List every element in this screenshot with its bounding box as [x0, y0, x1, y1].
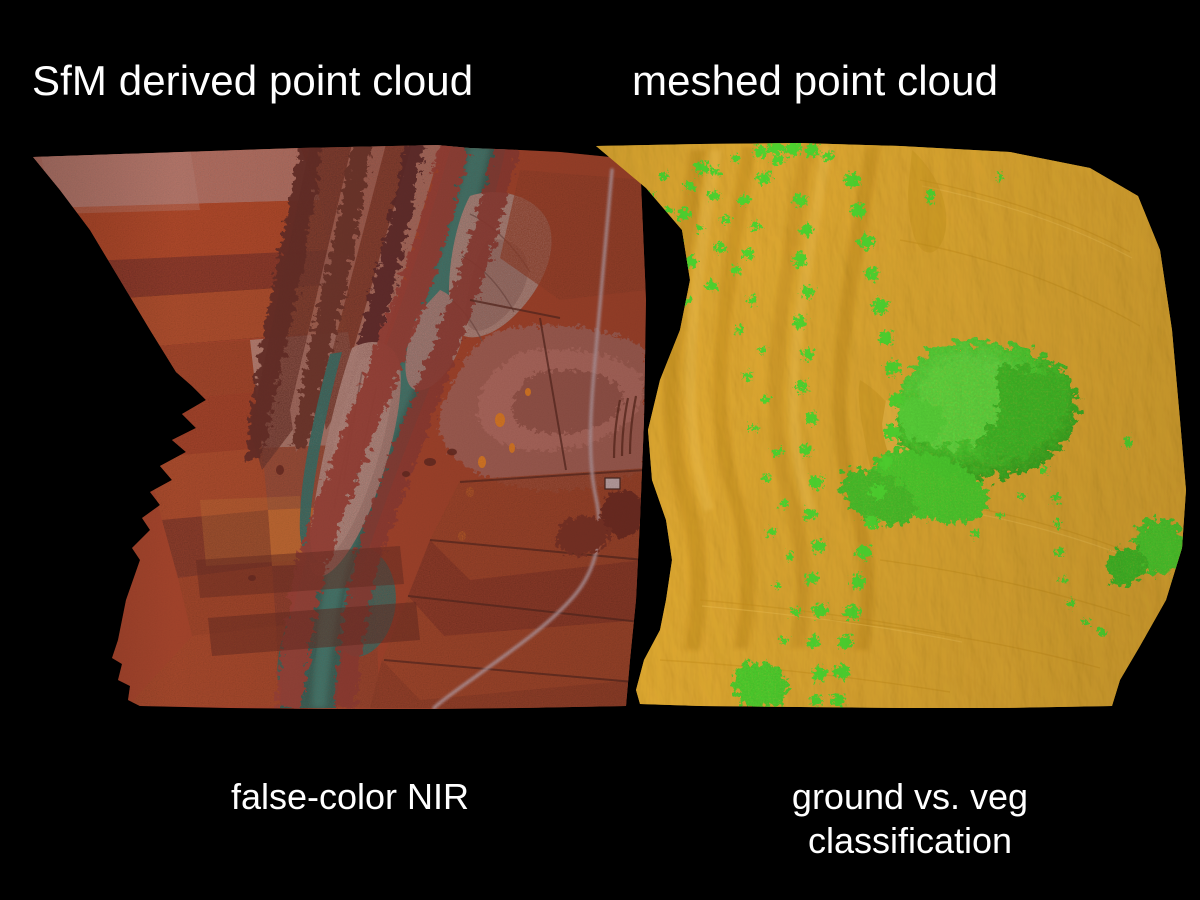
left-panel-caption: false-color NIR	[100, 775, 600, 819]
left-panel-title: SfM derived point cloud	[32, 60, 473, 102]
figure-canvas: SfM derived point cloud meshed point clo…	[0, 0, 1200, 900]
right-panel-caption: ground vs. veg classification	[660, 775, 1160, 863]
right-panel-meshed-classification	[0, 0, 1200, 900]
right-vignette	[560, 120, 1200, 740]
right-mesh-body	[560, 120, 1200, 740]
right-panel-title: meshed point cloud	[632, 60, 998, 102]
